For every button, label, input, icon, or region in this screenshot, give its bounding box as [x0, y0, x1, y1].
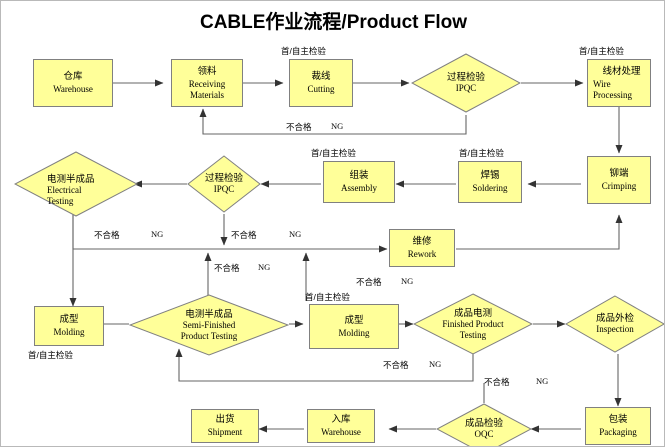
node-oqc[interactable]: 成品检验 OQC	[436, 403, 532, 447]
node-finished-product-testing[interactable]: 成品电测 Finished Product Testing	[413, 293, 533, 355]
edge-rework-crimping	[456, 215, 619, 249]
node-ipqc-top-cn: 过程检验	[447, 72, 485, 83]
note-wire-inspection: 首/自主检验	[579, 45, 624, 57]
edge-label-ng3-cn: 不合格	[231, 229, 257, 241]
node-wire-en1: Wire	[593, 79, 611, 90]
node-semi-finished-cn: 电测半成品	[185, 309, 233, 320]
node-electrical-en2: Testing	[47, 196, 73, 207]
node-electrical-cn: 电测半成品	[47, 174, 95, 185]
node-warehouse-in[interactable]: 仓库 Warehouse	[33, 59, 113, 107]
node-crimping-cn: 铆端	[609, 168, 628, 179]
node-warehouse-out-en: Warehouse	[321, 427, 361, 438]
node-soldering[interactable]: 焊锡 Soldering	[458, 161, 522, 203]
node-ipqc-mid[interactable]: 过程检验 IPQC	[187, 155, 261, 213]
node-assembly-cn: 组装	[349, 170, 368, 181]
node-warehouse-out[interactable]: 入库 Warehouse	[307, 409, 375, 443]
node-wire-cn: 线材处理	[602, 66, 640, 77]
edge-label-ng6-en: NG	[429, 359, 441, 369]
node-molding-left[interactable]: 成型 Molding	[34, 306, 104, 346]
note-molding-left-inspection: 首/自主检验	[28, 349, 73, 361]
node-crimping-en: Crimping	[602, 181, 637, 192]
node-finished-cn: 成品电测	[454, 308, 492, 319]
node-molding-right-cn: 成型	[344, 315, 363, 326]
node-soldering-cn: 焊锡	[480, 170, 499, 181]
node-assembly[interactable]: 组装 Assembly	[323, 161, 395, 203]
note-soldering-inspection: 首/自主检验	[459, 147, 504, 159]
edge-label-ng2-en: NG	[151, 229, 163, 239]
node-molding-right[interactable]: 成型 Molding	[309, 304, 399, 349]
node-packaging[interactable]: 包装 Packaging	[585, 407, 651, 445]
node-cutting-cn: 裁线	[311, 71, 330, 82]
edge-label-ng1-en: NG	[331, 121, 343, 131]
node-shipment-cn: 出货	[215, 414, 234, 425]
edge-label-ng4-en: NG	[258, 262, 270, 272]
edge-label-ng4-cn: 不合格	[214, 262, 240, 274]
note-cutting-inspection: 首/自主检验	[281, 45, 326, 57]
node-receiving-cn: 领料	[197, 66, 216, 77]
node-soldering-en: Soldering	[473, 183, 508, 194]
node-inspection-cn: 成品外检	[596, 313, 634, 324]
node-receiving-en2: Materials	[190, 90, 224, 101]
edge-label-ng2-cn: 不合格	[94, 229, 120, 241]
node-semi-finished-testing[interactable]: 电测半成品 Semi-Finished Product Testing	[129, 294, 289, 356]
edge-label-ng3-en: NG	[289, 229, 301, 239]
edge-label-ng6-cn: 不合格	[383, 359, 409, 371]
node-finished-en1: Finished Product	[442, 319, 503, 330]
node-inspection[interactable]: 成品外检 Inspection	[565, 295, 665, 353]
node-rework-cn: 维修	[412, 236, 431, 247]
flowchart-canvas: CABLE作业流程/Product Flow	[0, 0, 665, 447]
node-packaging-en: Packaging	[599, 427, 637, 438]
node-cutting[interactable]: 裁线 Cutting	[289, 59, 353, 107]
edge-label-ng7-en: NG	[536, 376, 548, 386]
node-ipqc-top-en: IPQC	[456, 83, 477, 94]
node-oqc-cn: 成品检验	[465, 418, 503, 429]
node-electrical-en1: Electrical	[47, 185, 81, 196]
note-molding-right-inspection: 首/自主检验	[305, 291, 350, 303]
node-wire-processing[interactable]: 线材处理 Wire Processing	[587, 59, 651, 107]
node-warehouse-out-cn: 入库	[331, 414, 350, 425]
node-semi-finished-en1: Semi-Finished	[183, 320, 236, 331]
node-ipqc-mid-en: IPQC	[214, 184, 235, 195]
node-warehouse-in-cn: 仓库	[63, 71, 82, 82]
node-rework-en: Rework	[408, 249, 437, 260]
node-assembly-en: Assembly	[341, 183, 377, 194]
node-semi-finished-en2: Product Testing	[181, 331, 237, 342]
note-assembly-inspection: 首/自主检验	[311, 147, 356, 159]
node-molding-left-en: Molding	[53, 327, 84, 338]
node-ipqc-top[interactable]: 过程检验 IPQC	[411, 53, 521, 113]
node-crimping[interactable]: 铆端 Crimping	[587, 156, 651, 204]
node-oqc-en: OQC	[474, 429, 493, 440]
edge-label-ng5-cn: 不合格	[356, 276, 382, 288]
node-receiving-en1: Receiving	[189, 79, 226, 90]
edge-label-ng5-en: NG	[401, 276, 413, 286]
node-molding-left-cn: 成型	[59, 314, 78, 325]
node-inspection-en: Inspection	[596, 324, 634, 335]
node-ipqc-mid-cn: 过程检验	[205, 173, 243, 184]
node-finished-en2: Testing	[460, 330, 486, 341]
edge-label-ng7-cn: 不合格	[484, 376, 510, 388]
node-shipment[interactable]: 出货 Shipment	[191, 409, 259, 443]
node-wire-en2: Processing	[593, 90, 632, 101]
node-cutting-en: Cutting	[307, 84, 334, 95]
node-packaging-cn: 包装	[608, 414, 627, 425]
node-electrical-testing[interactable]: 电测半成品 Electrical Testing	[14, 151, 138, 217]
node-molding-right-en: Molding	[338, 328, 369, 339]
edge-label-ng1-cn: 不合格	[286, 121, 312, 133]
node-rework[interactable]: 维修 Rework	[389, 229, 455, 267]
node-shipment-en: Shipment	[208, 427, 243, 438]
edge-electrical-ng-rework	[73, 214, 387, 249]
node-receiving-materials[interactable]: 领料 Receiving Materials	[171, 59, 243, 107]
node-warehouse-in-en: Warehouse	[53, 84, 93, 95]
